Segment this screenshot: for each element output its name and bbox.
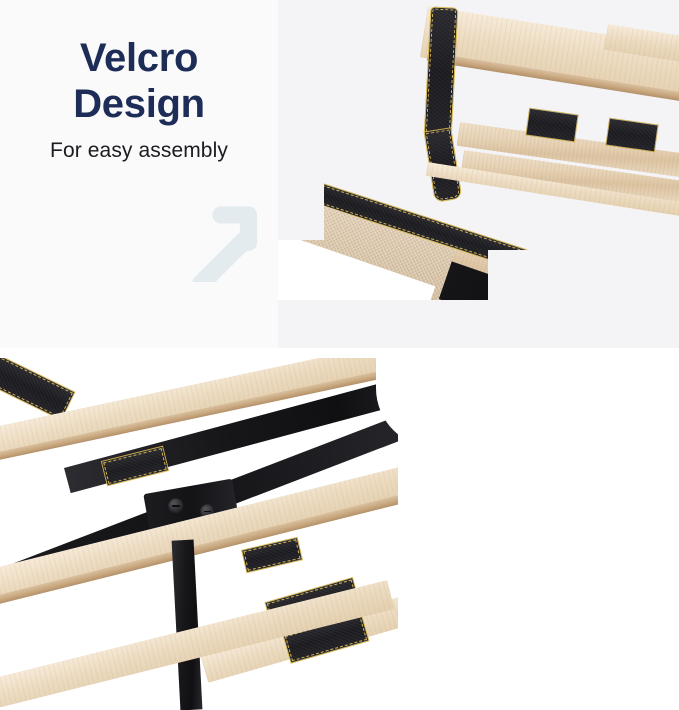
headline-velcro-line1: Velcro — [0, 36, 278, 82]
infographic-stage: Velcro Design For easy assembly — [0, 0, 679, 710]
feature-panel-eva-foam: EVA Foam Makes Noise Free — [0, 358, 679, 710]
photo-velcro-slat — [278, 0, 679, 348]
panel-divider — [0, 348, 679, 358]
feature-panel-velcro: Velcro Design For easy assembly — [0, 0, 679, 348]
photo-eva-foam-frame — [0, 358, 430, 710]
feature-text-velcro: Velcro Design For easy assembly — [0, 36, 278, 163]
headline-velcro-line2: Design — [0, 82, 278, 128]
subline-velcro: For easy assembly — [0, 139, 278, 163]
arrow-up-right-icon — [178, 196, 264, 282]
